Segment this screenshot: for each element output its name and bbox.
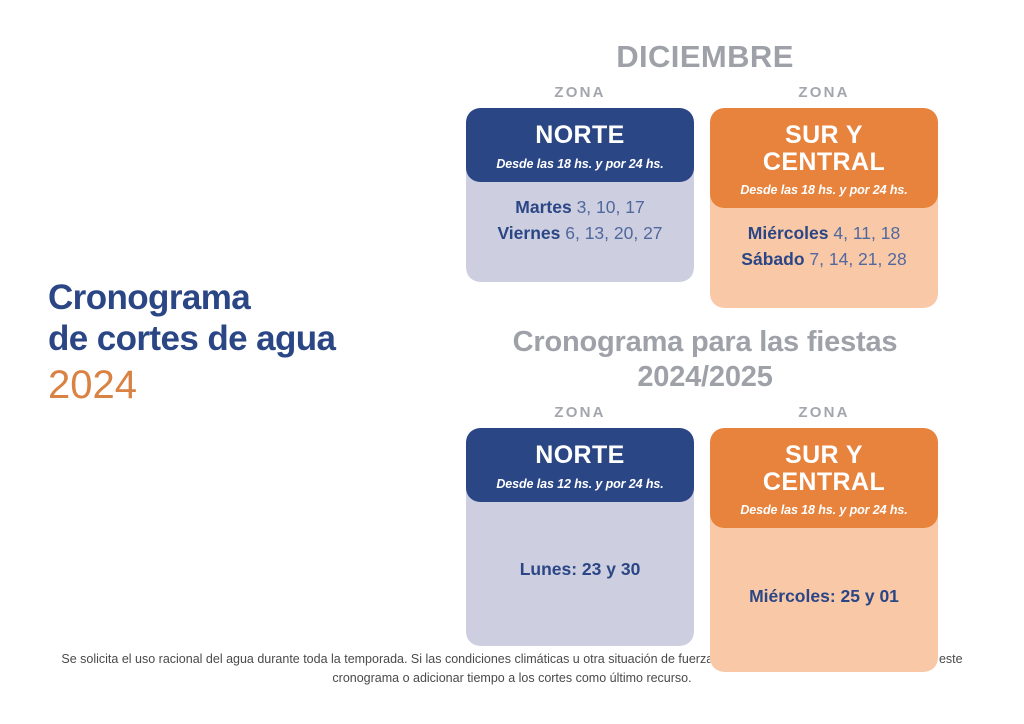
schedule-day-numbers: 6, 13, 20, 27: [565, 223, 662, 243]
schedule-day-numbers: 7, 14, 21, 28: [809, 249, 906, 269]
schedule-cards-diciembre: ZONA NORTE Desde las 18 hs. y por 24 hs.…: [466, 84, 938, 308]
card-body: Miércoles 4, 11, 18 Sábado 7, 14, 21, 28: [710, 194, 938, 308]
zone-name: SUR Y CENTRAL: [720, 442, 928, 495]
card-header: NORTE Desde las 18 hs. y por 24 hs.: [466, 108, 694, 182]
zone-hours: Desde las 18 hs. y por 24 hs.: [720, 183, 928, 197]
schedule-line: Martes 3, 10, 17: [474, 194, 686, 220]
card: SUR Y CENTRAL Desde las 18 hs. y por 24 …: [710, 108, 938, 308]
card-header: SUR Y CENTRAL Desde las 18 hs. y por 24 …: [710, 428, 938, 528]
zona-label: ZONA: [466, 404, 694, 421]
page-title-line-2: de cortes de agua: [48, 319, 438, 360]
schedule-line: Lunes: 23 y 30: [520, 559, 641, 580]
zone-hours: Desde las 12 hs. y por 24 hs.: [476, 477, 684, 491]
zone-name: NORTE: [476, 442, 684, 469]
zona-label: ZONA: [710, 404, 938, 421]
section-heading-diciembre: DICIEMBRE: [460, 39, 950, 75]
schedule-day-name: Miércoles: [748, 223, 829, 243]
page-title: Cronograma de cortes de agua 2024: [48, 278, 438, 409]
zone-name: SUR Y CENTRAL: [720, 122, 928, 175]
zone-hours: Desde las 18 hs. y por 24 hs.: [720, 503, 928, 517]
zone-card-sur-central-diciembre: ZONA SUR Y CENTRAL Desde las 18 hs. y po…: [710, 84, 938, 308]
schedule-line: Viernes 6, 13, 20, 27: [474, 220, 686, 246]
schedule-line: Sábado 7, 14, 21, 28: [718, 246, 930, 272]
schedule-line: Miércoles 4, 11, 18: [718, 220, 930, 246]
card-body: Martes 3, 10, 17 Viernes 6, 13, 20, 27: [466, 168, 694, 282]
card-header: NORTE Desde las 12 hs. y por 24 hs.: [466, 428, 694, 502]
zona-label: ZONA: [710, 84, 938, 101]
card-header: SUR Y CENTRAL Desde las 18 hs. y por 24 …: [710, 108, 938, 208]
zone-card-norte-fiestas: ZONA NORTE Desde las 12 hs. y por 24 hs.…: [466, 404, 694, 672]
card: NORTE Desde las 18 hs. y por 24 hs. Mart…: [466, 108, 694, 282]
zone-hours: Desde las 18 hs. y por 24 hs.: [476, 157, 684, 171]
card-body: Lunes: 23 y 30: [466, 488, 694, 646]
schedule-cards-fiestas: ZONA NORTE Desde las 12 hs. y por 24 hs.…: [466, 404, 938, 672]
zone-card-sur-central-fiestas: ZONA SUR Y CENTRAL Desde las 18 hs. y po…: [710, 404, 938, 672]
schedule-line: Miércoles: 25 y 01: [749, 586, 899, 607]
page-title-line-1: Cronograma: [48, 278, 438, 319]
card: SUR Y CENTRAL Desde las 18 hs. y por 24 …: [710, 428, 938, 672]
zone-name: NORTE: [476, 122, 684, 149]
zone-card-norte-diciembre: ZONA NORTE Desde las 18 hs. y por 24 hs.…: [466, 84, 694, 308]
section-heading-fiestas: Cronograma para las fiestas 2024/2025: [455, 325, 955, 396]
schedule-day-numbers: 3, 10, 17: [577, 197, 645, 217]
schedule-day-name: Sábado: [741, 249, 804, 269]
schedule-day-name: Martes: [515, 197, 571, 217]
schedule-day-numbers: 4, 11, 18: [833, 223, 900, 243]
card: NORTE Desde las 12 hs. y por 24 hs. Lune…: [466, 428, 694, 646]
page-title-year: 2024: [48, 362, 438, 409]
zona-label: ZONA: [466, 84, 694, 101]
schedule-day-name: Viernes: [497, 223, 560, 243]
card-body: Miércoles: 25 y 01: [710, 514, 938, 672]
